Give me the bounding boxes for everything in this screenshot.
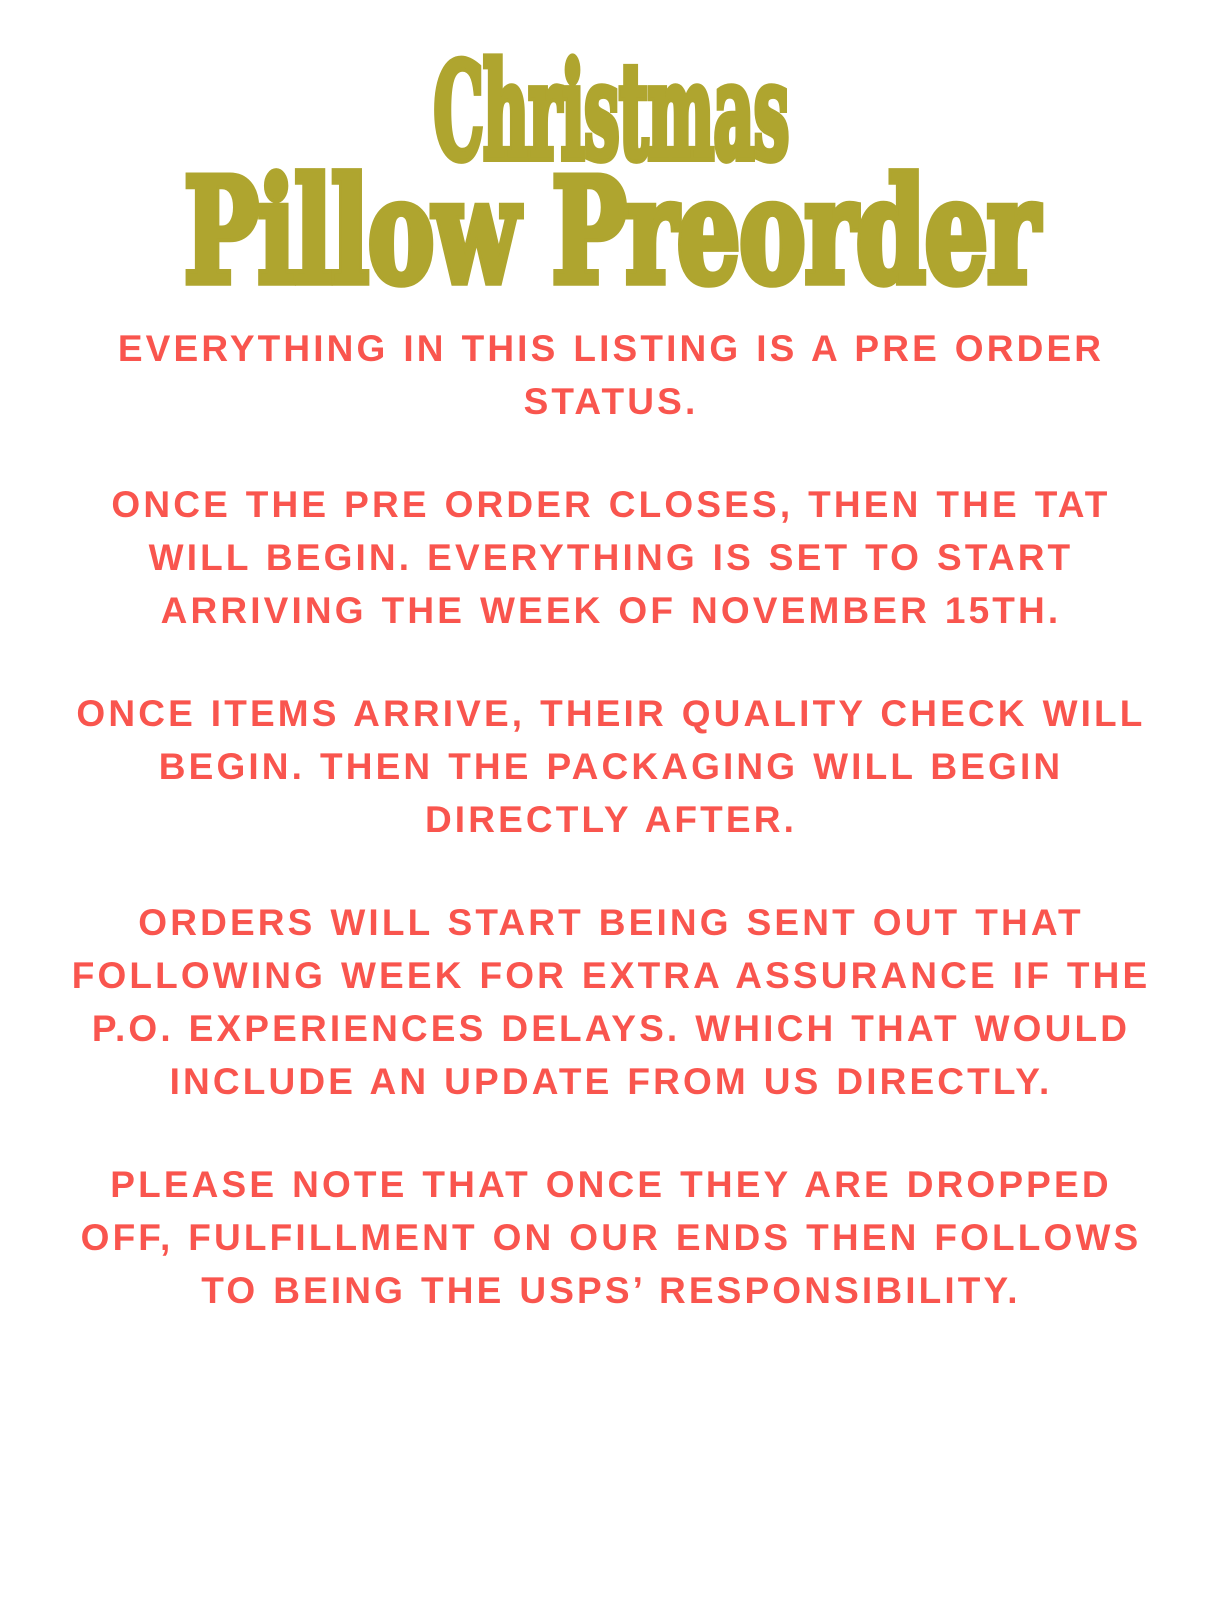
paragraph-tat-begin: ONCE THE PRE ORDER CLOSES, THEN THE TAT … <box>61 478 1161 637</box>
title-line-pillow-preorder: Pillow Preorder <box>111 161 1111 302</box>
paragraph-orders-sent-out: ORDERS WILL START BEING SENT OUT THAT FO… <box>61 896 1161 1108</box>
paragraph-pre-order-status: EVERYTHING IN THIS LISTING IS A PRE ORDE… <box>61 322 1161 428</box>
preorder-announcement-poster: Christmas Pillow Preorder EVERYTHING IN … <box>0 0 1222 1600</box>
poster-body: EVERYTHING IN THIS LISTING IS A PRE ORDE… <box>61 322 1161 1317</box>
paragraph-quality-check: ONCE ITEMS ARRIVE, THEIR QUALITY CHECK W… <box>61 687 1161 846</box>
paragraph-usps-responsibility: PLEASE NOTE THAT ONCE THEY ARE DROPPED O… <box>61 1158 1161 1317</box>
poster-title: Christmas Pillow Preorder <box>0 58 1222 291</box>
